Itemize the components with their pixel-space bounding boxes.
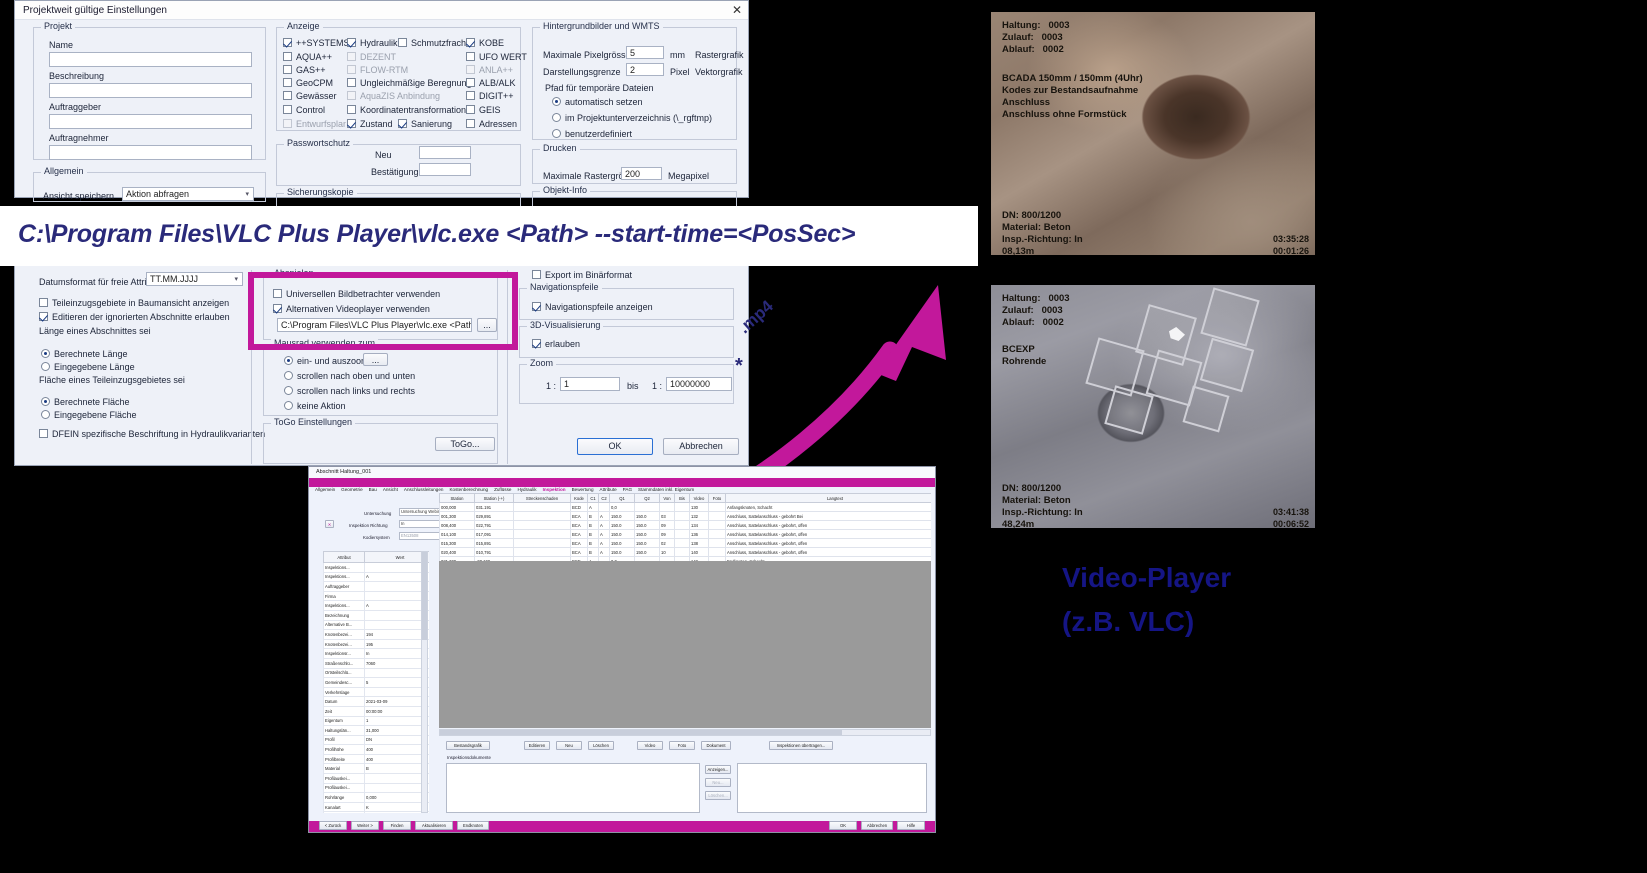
label-hydraulik: Hydraulik [360, 38, 398, 48]
attribute-table-wrapper[interactable]: AttributWertInspektions...Inspektions...… [323, 551, 429, 813]
input-zoom-min[interactable]: 1 [560, 377, 620, 391]
command-text: C:\Program Files\VLC Plus Player\vlc.exe… [0, 206, 978, 249]
tab-kostenberechnung[interactable]: Kostenberechnung [449, 487, 488, 492]
radio-ein-auszoomen[interactable] [284, 356, 293, 365]
button-foto[interactable]: Foto [669, 741, 695, 750]
button-weiter[interactable]: Weiter > [351, 821, 379, 830]
label-kodiersystem: Kodiersystem [363, 535, 390, 540]
tab-attribute[interactable]: Attribute [600, 487, 617, 492]
checkbox-dezent [347, 52, 356, 61]
video1-code-line2: Kodes zur Bestandsaufnahme [1002, 85, 1138, 98]
tab-geometrie[interactable]: Geometrie [341, 487, 362, 492]
checkbox-ungleichmaessige-beregnung[interactable] [347, 78, 356, 87]
checkbox-aqua[interactable] [283, 52, 292, 61]
button-video[interactable]: Video [637, 741, 663, 750]
attribute-row[interactable]: Ortsteilschlü... [324, 668, 430, 678]
togo-button[interactable]: ToGo... [435, 437, 495, 451]
checkbox-entwurfsplanung [283, 119, 292, 128]
video2-footer-line1: DN: 800/1200 [1002, 483, 1061, 496]
label-systems: ++SYSTEMS [296, 38, 350, 48]
checkbox-export-binaerformat[interactable] [532, 270, 541, 279]
attribute-row[interactable]: Firma [324, 591, 430, 601]
button-neu[interactable]: Neu [556, 741, 582, 750]
label-entwurfsplanung: Entwurfsplanung [296, 119, 346, 129]
grid-col-header: C2 [599, 494, 610, 503]
checkbox-control[interactable] [283, 105, 292, 114]
checkbox-gas[interactable] [283, 65, 292, 74]
grid-col-header: Langtext [726, 494, 932, 503]
checkbox-koordinatentransformation[interactable] [347, 105, 356, 114]
button-dokument[interactable]: Dokument [701, 741, 731, 750]
label-aqua: AQUA++ [296, 52, 332, 62]
group-3d-visualisierung-label: 3D-Visualisierung [527, 320, 603, 330]
attribute-row[interactable]: Eigentum1 [324, 716, 430, 726]
tab-stammdaten-inkl-eigentum[interactable]: Stammdaten inkl. Eigentum [638, 487, 694, 492]
label-berechnete-laenge: Berechnete Länge [54, 349, 128, 359]
video-frame-1: Haltung: 0003 Zulauf: 0003 Ablauf: 0002 … [991, 12, 1315, 255]
label-navigationspfeile: Navigationspfeile anzeigen [545, 302, 653, 312]
checkbox-aquazis [347, 91, 356, 100]
label-max-pixelgroesse: Maximale Pixelgrösse [543, 50, 631, 60]
button-anzeigen[interactable]: Anzeigen... [705, 765, 731, 774]
label-flowrtm: FLOW-RTM [360, 65, 408, 75]
radio-benutzerdefiniert[interactable] [552, 129, 561, 138]
video2-header-line2: Zulauf: 0003 [1002, 305, 1063, 318]
label-automatisch-setzen: automatisch setzen [565, 97, 643, 107]
label-inspektionsdokumente: Inspektionsdokumente [447, 755, 491, 760]
video1-footer-line1: DN: 800/1200 [1002, 210, 1061, 223]
group-objektinfo-label: Objekt-Info [540, 185, 590, 195]
table-row[interactable]: 008,400022,791BCABA150.0150.009134Anschl… [440, 521, 932, 530]
video2-footer-line4: 48,24m [1002, 519, 1034, 528]
group-hintergrundbilder-label: Hintergrundbilder und WMTS [540, 21, 663, 31]
select-datumsformat-value: TT.MM.JJJJ [150, 274, 198, 284]
group-togo-label: ToGo Einstellungen [271, 417, 355, 427]
input-beschreibung[interactable] [49, 83, 252, 98]
attribute-row[interactable]: Profilauskei... [324, 783, 430, 793]
attribute-row[interactable]: Entwässerun...M [324, 812, 430, 813]
label-eingegebene-flaeche: Eingegebene Fläche [54, 410, 137, 420]
checkbox-zustand[interactable] [347, 119, 356, 128]
group-passwortschutz: Passwortschutz [276, 144, 521, 186]
video2-timecode-relative: 00:06:52 [1273, 519, 1309, 528]
table-row[interactable]: 000,000031.191BCDA0,0130Anfangsknoten, S… [440, 503, 932, 512]
button-editieren[interactable]: Editieren [524, 741, 550, 750]
grid-col-header: Q1 [610, 494, 635, 503]
grid-col-header: Q2 [635, 494, 660, 503]
button-loeschen[interactable]: Löschen [588, 741, 614, 750]
button-app-ok[interactable]: OK [829, 821, 857, 830]
tab-zufl-sse[interactable]: Zuflüsse [494, 487, 511, 492]
docs-preview[interactable] [737, 763, 927, 813]
video2-code-line1: BCEXP [1002, 344, 1035, 357]
tab-ansicht[interactable]: Ansicht [383, 487, 398, 492]
group-zoom-label: Zoom [527, 358, 556, 368]
label-beschreibung: Beschreibung [49, 71, 104, 81]
label-berechnete-flaeche: Berechnete Fläche [54, 397, 130, 407]
checkbox-teileinzugsgebiete[interactable] [39, 298, 48, 307]
label-flaeche-teileinzugsgebiet: Fläche eines Teileinzugsgebietes sei [39, 375, 185, 385]
video2-footer-line3: Insp.-Richtung: In [1002, 507, 1083, 520]
table-row[interactable]: 014,100017,091BCABA150.0150.009136Anschl… [440, 530, 932, 539]
label-anla: ANLA++ [479, 65, 513, 75]
video2-header-line1: Haltung: 0003 [1002, 293, 1070, 306]
select-ansicht-value: Aktion abfragen [126, 189, 189, 199]
input-max-pixelgroesse[interactable]: 5 [626, 46, 664, 59]
video1-timecode-relative: 00:01:26 [1273, 246, 1309, 255]
label-dezent: DEZENT [360, 52, 396, 62]
attribute-row[interactable]: Inspektionsr...In [324, 649, 430, 659]
checkbox-kobe[interactable] [466, 38, 475, 47]
table-row[interactable]: 015,300015,891BCABA150.0150.002138Anschl… [440, 539, 932, 548]
video1-code-line3: Anschluss [1002, 97, 1050, 110]
label-koordinatentransformation: Koordinatentransformation [360, 105, 466, 115]
label-ungleichmaessige-beregnung: Ungleichmäßige Beregnung [360, 78, 472, 88]
attribute-row[interactable]: MaterialB [324, 764, 430, 774]
attribute-row[interactable]: Alternative B... [324, 620, 430, 630]
label-zoom-bis: bis [627, 381, 639, 391]
checkbox-flowrtm [347, 65, 356, 74]
checkbox-geis[interactable] [466, 105, 475, 114]
tab-hydraulik[interactable]: Hydraulik [517, 487, 536, 492]
video1-header-line3: Ablauf: 0002 [1002, 44, 1064, 57]
input-passwort-bestaetigung[interactable] [419, 163, 471, 176]
attribute-row[interactable]: Inspektions... [324, 563, 430, 573]
input-auftraggeber[interactable] [49, 114, 252, 129]
tab-bewertung[interactable]: Bewertung [572, 487, 594, 492]
radio-projektunterverzeichnis[interactable] [552, 113, 561, 122]
tab-inspektion[interactable]: Inspektion [543, 487, 566, 492]
radio-scroll-links-rechts[interactable] [284, 386, 293, 395]
select-ansicht-speichern[interactable]: Aktion abfragen ▾ [122, 187, 254, 201]
grid-col-header: Foto [709, 494, 726, 503]
label-ufowert: UFO WERT [479, 52, 527, 62]
label-digit: DIGIT++ [479, 91, 514, 101]
label-zoom-prefix1: 1 : [546, 381, 556, 391]
attribute-row[interactable]: ProfilDN [324, 735, 430, 745]
attr-col-header: Wert [365, 552, 430, 563]
checkbox-anla [466, 65, 475, 74]
checkbox-gewaesser[interactable] [283, 91, 292, 100]
video1-code-line4: Anschluss ohne Formstück [1002, 109, 1127, 122]
checkbox-albalk[interactable] [466, 78, 475, 87]
label-zoom-prefix2: 1 : [652, 381, 662, 391]
attribute-row[interactable]: Knotenbezei...194 [324, 630, 430, 640]
label-scroll-oben-unten: scrollen nach oben und unten [297, 371, 415, 381]
dialog-title: Projektweit gültige Einstellungen [23, 5, 167, 16]
inspection-app-window: Abschnitt Haltung_001 AllgemeinGeometrie… [308, 466, 936, 833]
grid-col-header: Streckenschaden [514, 494, 571, 503]
input-name[interactable] [49, 52, 252, 67]
label-gewaesser: Gewässer [296, 91, 337, 101]
attribute-scrollbar[interactable] [421, 551, 428, 813]
checkbox-editieren-ignorierte[interactable] [39, 312, 48, 321]
label-pfad-temp: Pfad für temporäre Dateien [545, 83, 654, 93]
label-darstellungsgrenze: Darstellungsgrenze [543, 67, 621, 77]
grid-col-header: Kode [571, 494, 588, 503]
video2-footer-line2: Material: Beton [1002, 495, 1071, 508]
attribute-row[interactable]: Profilauskei... [324, 774, 430, 784]
input-auftragnehmer[interactable] [49, 145, 252, 160]
decor-shape [1200, 287, 1259, 346]
grid-col-header: C1 [588, 494, 599, 503]
checkbox-ufowert[interactable] [466, 52, 475, 61]
asterisk-marker: * [735, 355, 743, 378]
video1-footer-line3: Insp.-Richtung: In [1002, 234, 1083, 247]
label-benutzerdefiniert: benutzerdefiniert [565, 129, 632, 139]
label-kobe: KOBE [479, 38, 504, 48]
video1-footer-line4: 08,13m [1002, 246, 1034, 255]
unit-mm: mm [670, 50, 685, 60]
group-passwortschutz-label: Passwortschutz [284, 138, 353, 148]
label-ansicht-speichern: Ansicht speichern [43, 191, 114, 201]
video2-code-line2: Rohrende [1002, 356, 1046, 369]
grid-col-header: Bis [675, 494, 690, 503]
label-keine-aktion: keine Aktion [297, 401, 346, 411]
label-auftragnehmer: Auftragnehmer [49, 133, 109, 143]
attribute-row[interactable]: Profilbreite400 [324, 754, 430, 764]
grid-col-header: Von [660, 494, 675, 503]
radio-berechnete-flaeche[interactable] [41, 397, 50, 406]
label-inspektion-richtung: Inspektion Richtung [349, 523, 388, 528]
checkbox-geocpm[interactable] [283, 78, 292, 87]
radio-eingegebene-flaeche[interactable] [41, 410, 50, 419]
label-geocpm: GeoCPM [296, 78, 333, 88]
chevron-down-icon: ▾ [245, 190, 249, 198]
label-projektunterverzeichnis: im Projektunterverzeichnis (\_rgftmp) [565, 113, 712, 123]
button-endknoten[interactable]: Endknoten [457, 821, 489, 830]
group-sicherungskopie-label: Sicherungskopie [284, 187, 357, 197]
checkbox-schmutzfracht[interactable] [398, 38, 407, 47]
label-eingegebene-laenge: Eingegebene Länge [54, 362, 135, 372]
label-sanierung: Sanierung [411, 119, 452, 129]
video2-header-line3: Ablauf: 0002 [1002, 317, 1064, 330]
checkbox-navigationspfeile[interactable] [532, 302, 541, 311]
button-doc-neu: Neu... [705, 778, 731, 787]
attribute-row[interactable]: Haltungslän...31,000 [324, 726, 430, 736]
label-passwort-bestaetigung: Bestätigung [371, 167, 419, 177]
button-bestandsgrafik[interactable]: Bestandsgrafik [446, 741, 490, 750]
close-icon[interactable]: ✕ [732, 3, 742, 17]
attribute-table: AttributWertInspektions...Inspektions...… [323, 551, 429, 813]
attribute-row[interactable]: Knotenbezei...195 [324, 639, 430, 649]
radio-eingegebene-laenge[interactable] [41, 362, 50, 371]
checkbox-adressen[interactable] [466, 119, 475, 128]
button-finden[interactable]: Finden [383, 821, 411, 830]
video2-timecode-absolute: 03:41:38 [1273, 507, 1309, 517]
label-auftraggeber: Auftraggeber [49, 102, 101, 112]
video1-code-line1: BCADA 150mm / 150mm (4Uhr) [1002, 73, 1143, 86]
button-aktualisieren[interactable]: Aktualisieren [415, 821, 453, 830]
attribute-row[interactable]: Datum2021-03-09 [324, 697, 430, 707]
label-dfein: DFEIN spezifische Beschriftung in Hydrau… [52, 429, 265, 439]
richtung-toggle-icon[interactable]: ✕ [325, 520, 334, 528]
checkbox-dfein[interactable] [39, 429, 48, 438]
label-vektorgrafik: Vektorgrafik [695, 67, 743, 77]
table-row[interactable]: 020,400010,791BCABA150.0150.010140Anschl… [440, 548, 932, 557]
label-aquazis: AquaZIS Anbindung [360, 91, 440, 101]
label-scroll-links-rechts: scrollen nach links und rechts [297, 386, 415, 396]
label-zustand: Zustand [360, 119, 393, 129]
radio-keine-aktion[interactable] [284, 401, 293, 410]
button-doc-loeschen: Löschen... [705, 791, 731, 800]
docs-list[interactable] [446, 763, 700, 813]
group-projekt-label: Projekt [41, 21, 75, 31]
attribute-row[interactable]: Auftraggeber [324, 582, 430, 592]
attribute-row[interactable]: Inspektions...A [324, 601, 430, 611]
attribute-row[interactable]: KanalartK [324, 802, 430, 812]
attribute-row[interactable]: Gemeindesc...5 [324, 678, 430, 688]
label-editieren-ignorierte: Editieren der ignorierten Abschnitte erl… [52, 312, 230, 322]
attribute-row[interactable]: Verkehrslage [324, 687, 430, 697]
button-app-hilfe[interactable]: Hilfe [897, 821, 925, 830]
group-allgemein-label: Allgemein [41, 166, 87, 176]
tab-allgemein[interactable]: Allgemein [315, 487, 335, 492]
attribute-row[interactable]: Zeit00:00:00 [324, 706, 430, 716]
label-passwort-neu: Neu [375, 150, 392, 160]
label-untersuchung: Untersuchung [364, 511, 391, 516]
label-gas: GAS++ [296, 65, 326, 75]
video-hscrollbar[interactable] [439, 729, 931, 736]
radio-automatisch-setzen[interactable] [552, 97, 561, 106]
video-preview-pane[interactable] [439, 561, 931, 728]
label-datumsformat: Datumsformat für freie Attribut [39, 277, 159, 287]
chevron-down-icon: ▾ [234, 275, 238, 283]
label-laenge-abschnitt: Länge eines Abschnittes sei [39, 326, 151, 336]
label-rastergrafik: Rastergrafik [695, 50, 744, 60]
label-albalk: ALB/ALK [479, 78, 516, 88]
inspection-grid-wrapper[interactable]: StationStation (-+)StreckenschadenKodeC1… [439, 493, 931, 569]
label-adressen: Adressen [479, 119, 517, 129]
checkbox-3d-erlauben[interactable] [532, 339, 541, 348]
checkbox-hydraulik[interactable] [347, 38, 356, 47]
settings-dialog-top: Projektweit gültige Einstellungen ✕ Proj… [14, 0, 749, 198]
checkbox-sanierung[interactable] [398, 119, 407, 128]
grid-col-header: Station (-+) [475, 494, 514, 503]
radio-berechnete-laenge[interactable] [41, 349, 50, 358]
label-control: Control [296, 105, 325, 115]
unit-pixel: Pixel [670, 67, 690, 77]
table-row[interactable]: 001,300029,891BCABA150.0150.003132Anschl… [440, 512, 932, 521]
input-passwort-neu[interactable] [419, 146, 471, 159]
select-datumsformat[interactable]: TT.MM.JJJJ ▾ [146, 272, 243, 286]
label-schmutzfracht: Schmutzfracht [411, 38, 469, 48]
app-title: Abschnitt Haltung_001 [309, 467, 935, 478]
grid-col-header: Video [690, 494, 709, 503]
button-inspektionen-uebertragen[interactable]: Inspektionen übertragen... [769, 741, 833, 750]
input-max-rastergroesse[interactable]: 200 [621, 167, 662, 180]
attribute-row[interactable]: Straßenschlü...7060 [324, 658, 430, 668]
button-app-abbrechen[interactable]: Abbrechen [861, 821, 893, 830]
attr-col-header: Attribut [324, 552, 365, 563]
label-name: Name [49, 40, 73, 50]
group-anzeige-label: Anzeige [284, 21, 323, 31]
ok-button[interactable]: OK [577, 438, 653, 455]
inspection-grid: StationStation (-+)StreckenschadenKodeC1… [439, 493, 931, 566]
video1-timecode-absolute: 03:35:28 [1273, 234, 1309, 244]
video-player-caption-line2: (z.B. VLC) [1062, 600, 1362, 644]
group-navigationspfeile-label: Navigationspfeile [527, 282, 602, 292]
label-3d-erlauben: erlauben [545, 339, 580, 349]
video-frame-2: Haltung: 0003 Zulauf: 0003 Ablauf: 0002 … [991, 285, 1315, 528]
checkbox-systems[interactable] [283, 38, 292, 47]
tab-pag[interactable]: PAG [623, 487, 632, 492]
video1-header-line2: Zulauf: 0003 [1002, 32, 1063, 45]
radio-scroll-oben-unten[interactable] [284, 371, 293, 380]
group-drucken-label: Drucken [540, 143, 580, 153]
label-teileinzugsgebiete: Teileinzugsgebiete in Baumansicht anzeig… [52, 298, 229, 308]
input-darstellungsgrenze[interactable]: 2 [626, 63, 664, 76]
tab-bau[interactable]: Bau [369, 487, 377, 492]
button-zurueck[interactable]: < Zurück [319, 821, 347, 830]
mausrad-options-button[interactable]: ... [363, 353, 388, 366]
attribute-row[interactable]: Rohrlänge0,000 [324, 793, 430, 803]
video1-footer-line2: Material: Beton [1002, 222, 1071, 235]
attribute-row[interactable]: Inspektions...A [324, 572, 430, 582]
app-accent-bar [309, 478, 935, 487]
unit-megapixel: Megapixel [668, 171, 709, 181]
video-player-caption-line1: Video-Player [1062, 556, 1362, 600]
label-geis: GEIS [479, 105, 501, 115]
video1-header-line1: Haltung: 0003 [1002, 20, 1070, 33]
grid-col-header: Station [440, 494, 475, 503]
dialog-title-bar: Projektweit gültige Einstellungen ✕ [15, 1, 748, 20]
video-player-caption: Video-Player (z.B. VLC) [1062, 556, 1362, 644]
highlight-abspielen [248, 272, 518, 350]
attribute-row[interactable]: Profilhöhe400 [324, 745, 430, 755]
checkbox-digit[interactable] [466, 91, 475, 100]
attribute-row[interactable]: Bezeichnung [324, 610, 430, 620]
tab-anschlussleitungen[interactable]: Anschlussleitungen [404, 487, 444, 492]
label-export-binaerformat: Export im Binärformat [545, 270, 632, 280]
